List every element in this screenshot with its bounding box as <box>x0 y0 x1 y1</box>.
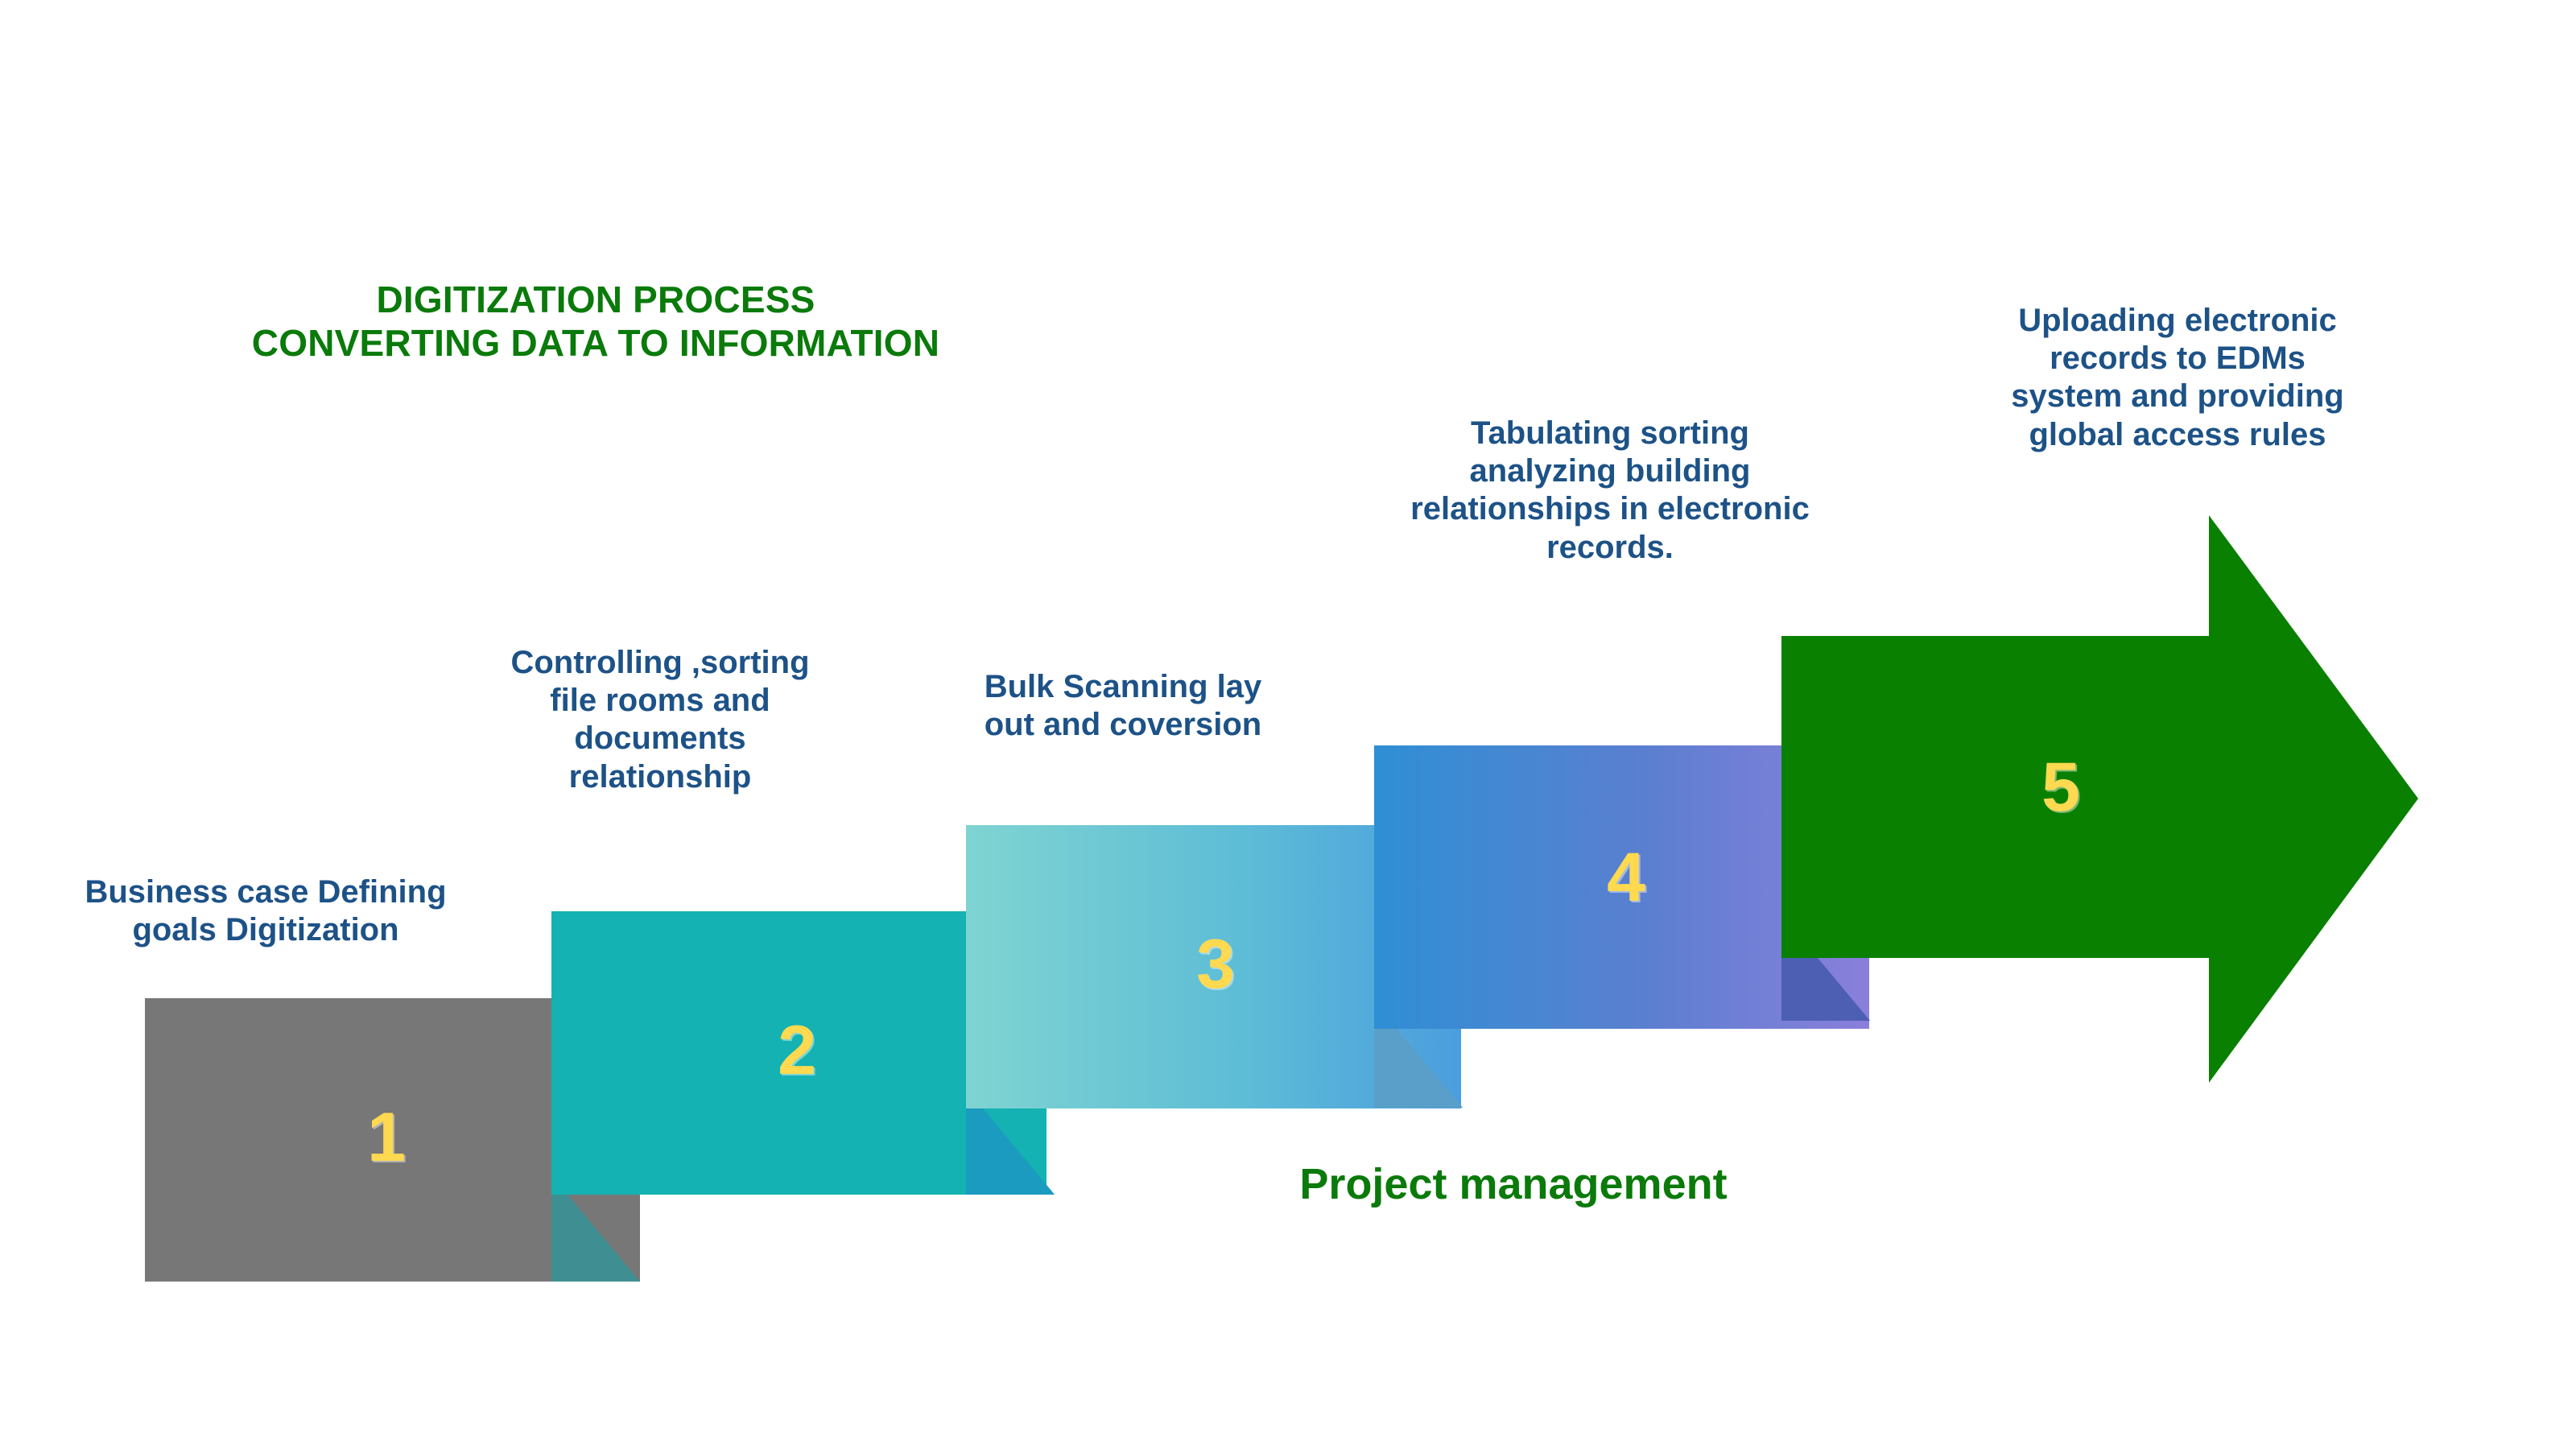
step-2-number: 2 <box>749 1016 845 1085</box>
page-title-line-1: DIGITIZATION PROCESS <box>377 279 815 320</box>
step-5-number: 5 <box>2013 753 2109 822</box>
step-1-caption: Business case Defining goals Digitizatio… <box>24 873 507 949</box>
step-1-number: 1 <box>338 1103 435 1172</box>
step-5-caption: Uploading electronic records to EDMs sys… <box>1948 302 2407 454</box>
step-3-number: 3 <box>1167 930 1264 999</box>
step-3-caption: Bulk Scanning lay out and coversion <box>918 668 1328 744</box>
step-2-caption: Controlling ,sorting file rooms and docu… <box>435 644 885 796</box>
step-4-number: 4 <box>1578 843 1674 912</box>
step-4-caption: Tabulating sorting analyzing building re… <box>1320 415 1900 567</box>
slide-canvas: DIGITIZATION PROCESSCONVERTING DATA TO I… <box>0 0 2576 1449</box>
footer-label: Project management <box>1111 1159 1916 1211</box>
page-title-line-2: CONVERTING DATA TO INFORMATION <box>252 322 939 364</box>
page-title: DIGITIZATION PROCESSCONVERTING DATA TO I… <box>193 278 998 365</box>
